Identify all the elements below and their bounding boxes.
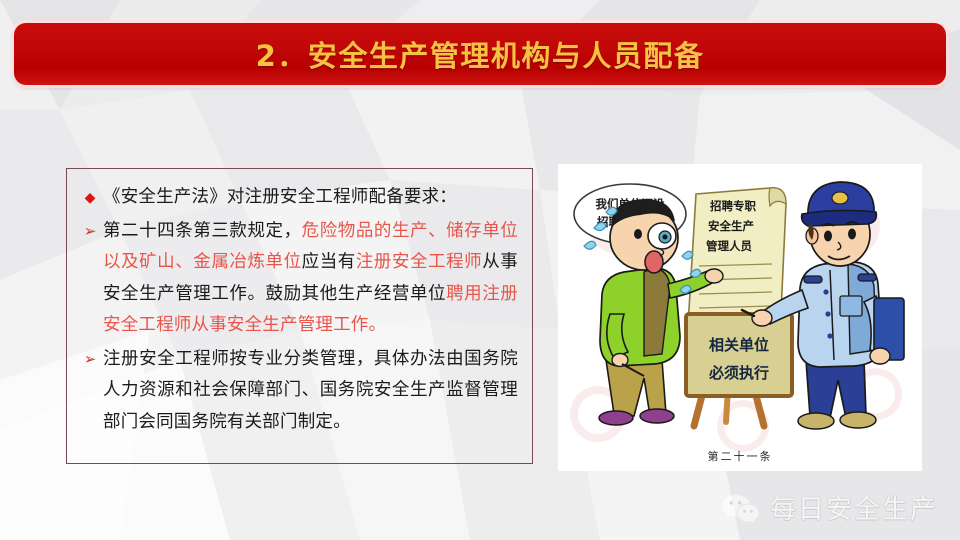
wechat-icon: [720, 492, 760, 524]
content-text-box: ◆ 《安全生产法》对注册安全工程师配备要求： ➢ 第二十四条第三款规定，危险物品…: [66, 168, 533, 464]
bullet-item-1: ◆ 《安全生产法》对注册安全工程师配备要求：: [77, 182, 518, 214]
illustration-caption: 第二十一条: [708, 449, 773, 463]
bullet-2-seg-2: 应当有: [302, 252, 356, 272]
sign-board-line1: 相关单位: [709, 336, 769, 354]
page-title: 2．安全生产管理机构与人员配备: [256, 33, 705, 75]
diamond-bullet-icon: ◆: [77, 182, 103, 213]
bullet-text-3: 注册安全工程师按专业分类管理，具体办法由国务院人力资源和社会保障部门、国务院安全…: [103, 344, 518, 439]
bullet-3-seg-0: 注册安全工程师按专业分类管理，具体办法由国务院人力资源和社会保障部门、国务院安全…: [103, 349, 518, 432]
bullet-text-1: 《安全生产法》对注册安全工程师配备要求：: [103, 182, 518, 214]
bullet-1-seg-0: 《安全生产法》对注册安全工程师配备要求：: [103, 187, 457, 207]
arrow-bullet-icon: ➢: [77, 344, 103, 375]
cartoon-illustration: 我们单位还没 招聘到呢 招聘专职 安全生产 管理人员: [558, 164, 922, 471]
slide-canvas: 2．安全生产管理机构与人员配备 ◆ 《安全生产法》对注册安全工程师配备要求： ➢…: [0, 0, 960, 540]
scroll-line3: 管理人员: [706, 239, 752, 253]
bullet-2-seg-3: 注册安全工程师: [356, 252, 482, 272]
scroll-line2: 安全生产: [708, 219, 754, 233]
slide-title-banner: 2．安全生产管理机构与人员配备: [14, 23, 946, 85]
scroll-line1: 招聘专职: [710, 199, 756, 213]
arrow-bullet-icon: ➢: [77, 216, 103, 247]
bullet-item-2: ➢ 第二十四条第三款规定，危险物品的生产、储存单位以及矿山、金属冶炼单位应当有注…: [77, 216, 518, 342]
bullet-text-2: 第二十四条第三款规定，危险物品的生产、储存单位以及矿山、金属冶炼单位应当有注册安…: [103, 216, 518, 342]
bullet-item-3: ➢ 注册安全工程师按专业分类管理，具体办法由国务院人力资源和社会保障部门、国务院…: [77, 344, 518, 439]
brand-footer: 每日安全生产: [720, 489, 938, 526]
brand-name: 每日安全生产: [770, 489, 938, 526]
illustration-panel: 我们单位还没 招聘到呢 招聘专职 安全生产 管理人员: [558, 164, 922, 471]
bullet-2-seg-0: 第二十四条第三款规定，: [103, 221, 302, 241]
sign-board-line2: 必须执行: [708, 364, 769, 382]
